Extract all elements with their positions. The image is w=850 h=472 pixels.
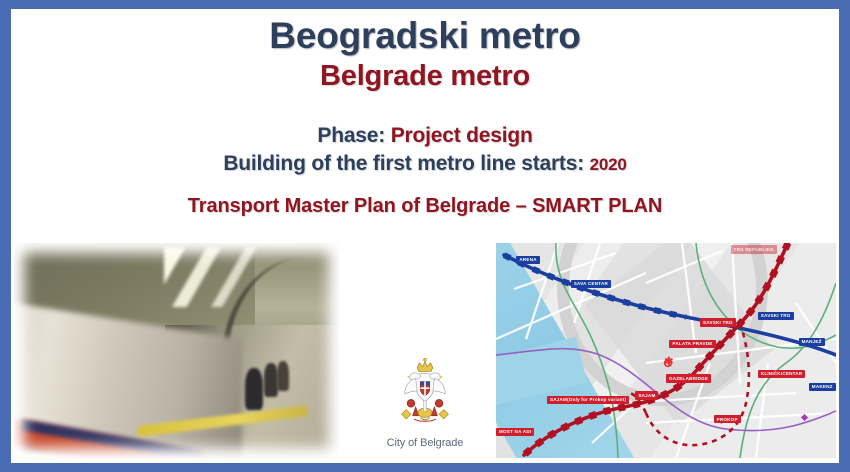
metro-route-map: ✱ ARENASAVA CENTARTRG REPUBLIKESAVSKI TR… <box>496 243 836 458</box>
map-station-label-text: KLINIČKI <box>761 371 783 376</box>
map-station-label-text: GAZELA <box>669 376 689 381</box>
metro-station-photo <box>14 243 339 458</box>
page-subtitle: Belgrade metro <box>11 58 839 94</box>
map-station-label: KLINIČKICENTAR <box>758 370 806 378</box>
map-station-label-text: PALATA PRAVDE <box>672 341 712 346</box>
map-station-label: MAKENZ <box>809 383 836 391</box>
map-station-label-text: ARENA <box>519 257 536 262</box>
map-station-label-sub: (Only for Prokop variant) <box>567 397 626 402</box>
master-plan-line: Transport Master Plan of Belgrade – SMAR… <box>11 195 839 218</box>
map-station-label: ARENA <box>516 256 539 264</box>
map-crossing-marker: ✱ <box>664 357 673 368</box>
start-label: Building of the first metro line starts: <box>223 152 584 175</box>
map-station-label: SAVA CENTAR <box>571 280 611 288</box>
map-station-label: PALATA PRAVDE <box>669 340 715 348</box>
photo-passenger <box>245 368 263 410</box>
map-station-label-text: SAVA CENTAR <box>574 281 608 286</box>
map-station-label-sub: BRIDGE <box>689 376 708 381</box>
coat-of-arms-icon <box>386 355 464 433</box>
map-station-label: TRG REPUBLIKE <box>731 245 777 253</box>
map-station-label-text: TRG REPUBLIKE <box>734 247 774 252</box>
map-station-label-sub: CENTAR <box>782 371 802 376</box>
map-lines-layer <box>496 243 836 458</box>
start-line: Building of the first metro line starts:… <box>11 150 839 178</box>
photo-passenger <box>264 363 278 397</box>
coat-of-arms-svg <box>386 355 464 433</box>
map-station-label-text: PROKOP <box>717 417 738 422</box>
title-block: Beogradski metro Belgrade metro <box>11 15 839 95</box>
map-station-label-text: SAVSKI TRG <box>703 320 733 325</box>
map-station-label: SAJAM(Only for Prokop variant) <box>547 396 629 404</box>
phase-value: Project design <box>391 124 533 147</box>
map-station-label: GAZELABRIDGE <box>666 374 711 382</box>
map-station-label-text: MANJEŽ <box>802 339 822 344</box>
emblem-caption: City of Belgrade <box>360 437 490 449</box>
slide-canvas: Beogradski metro Belgrade metro Phase: P… <box>11 9 839 463</box>
map-station-label-text: SAJAM <box>638 393 655 398</box>
map-station-label: SAVSKI TRG <box>758 312 794 320</box>
phase-block: Phase: Project design Building of the fi… <box>11 122 839 177</box>
city-emblem-block: City of Belgrade <box>360 355 490 449</box>
map-station-label-text: MAKENZ <box>812 384 833 389</box>
phase-line: Phase: Project design <box>11 122 839 150</box>
map-station-label-text: SAVSKI TRG <box>761 313 791 318</box>
start-year: 2020 <box>590 155 627 174</box>
map-station-label: MANJEŽ <box>799 338 825 346</box>
map-station-label: MOST NA ADI <box>496 428 534 436</box>
map-station-label-text: SAJAM <box>550 397 567 402</box>
map-station-label: SAVSKI TRG <box>700 318 736 326</box>
map-station-label-text: MOST NA ADI <box>499 429 531 434</box>
map-station-label: PROKOP <box>714 415 741 423</box>
photo-passenger <box>277 361 289 391</box>
page-title: Beogradski metro <box>11 15 839 56</box>
phase-label: Phase: <box>317 124 385 147</box>
slide-root: Beogradski metro Belgrade metro Phase: P… <box>0 0 850 472</box>
map-station-label: SAJAM <box>635 391 658 399</box>
